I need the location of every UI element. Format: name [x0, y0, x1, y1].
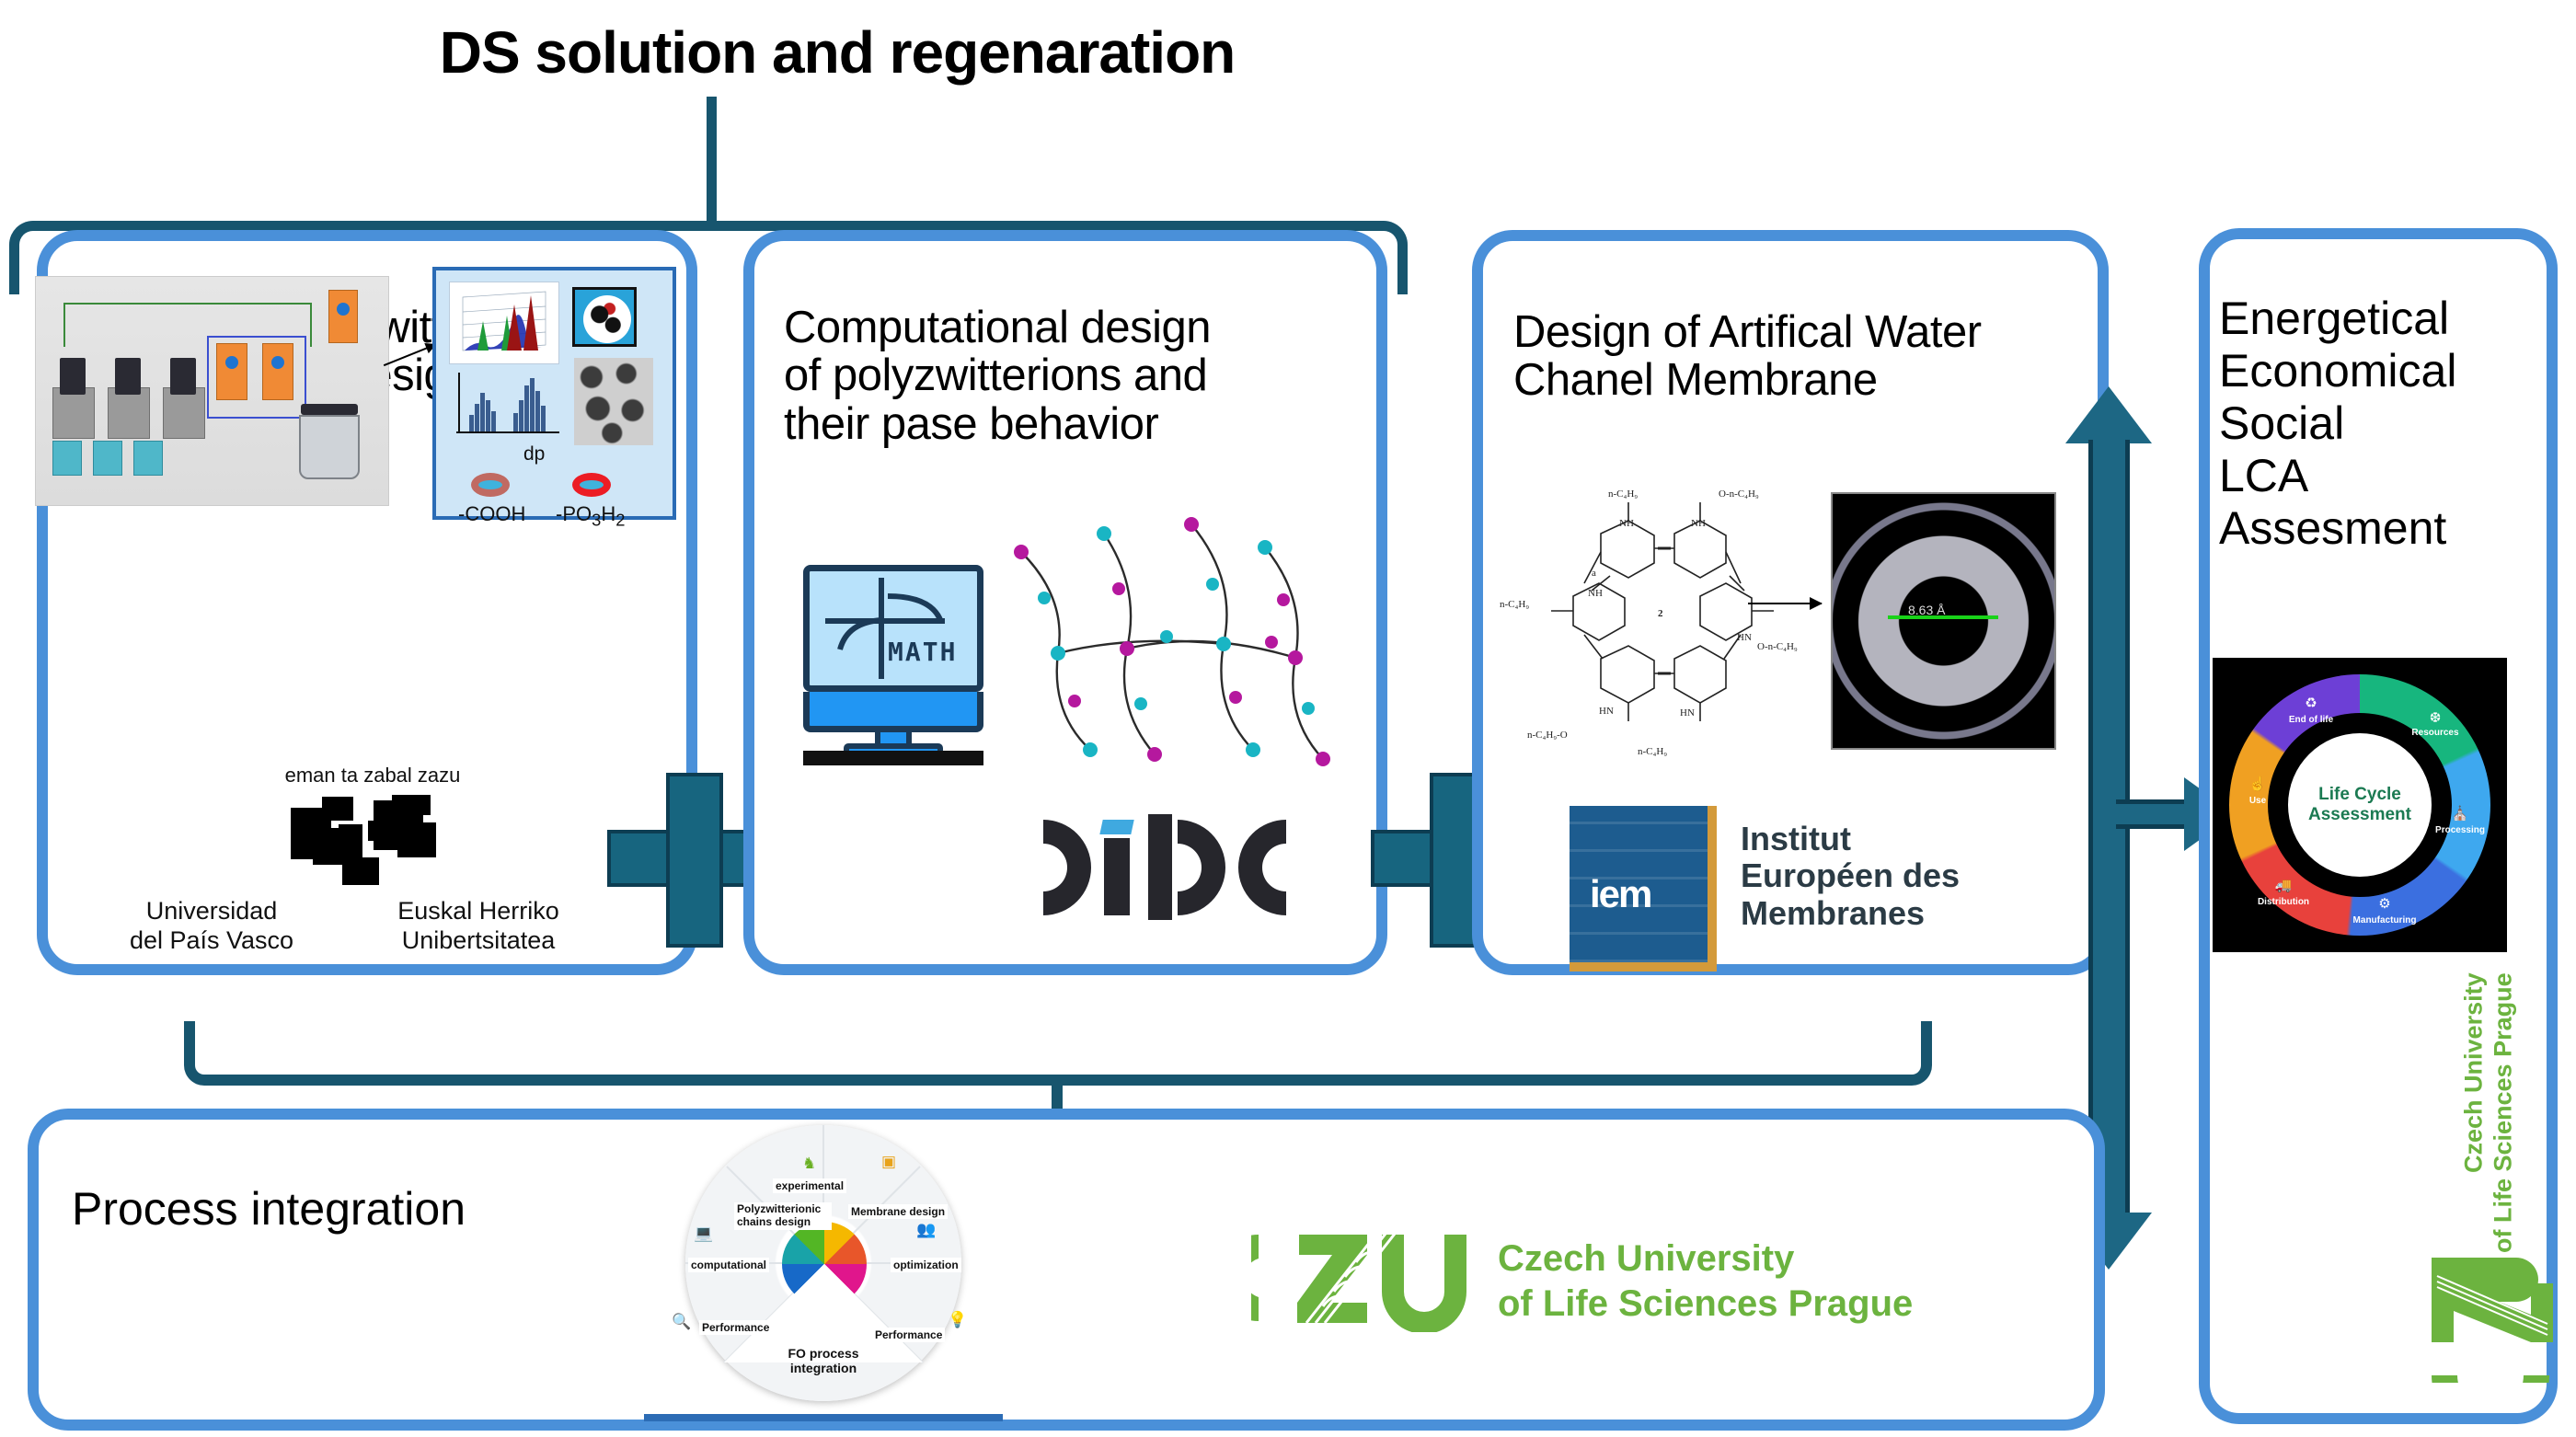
czu-name-line2: of Life Sciences Prague: [1498, 1282, 1913, 1327]
polymer-schematic-icon: [572, 287, 637, 347]
iem-name-line3: Membranes: [1741, 895, 1960, 932]
lca-label-resources: Resources: [2401, 728, 2469, 738]
panel2-title: Computational design of polyzwitterions …: [784, 304, 1382, 448]
svg-text:n-C₄H₉-O: n-C₄H₉-O: [1527, 730, 1568, 741]
lca-label-end-of-life: End of life: [2277, 715, 2345, 725]
ehu-name-basque: Euskal Herriko Unibertsitatea: [359, 897, 598, 956]
czu-logo-vertical: Czech University of Life Sciences Prague: [2438, 957, 2567, 1408]
iem-mark-text: iem: [1590, 872, 1650, 916]
lab-setup-image: [35, 276, 389, 506]
ehu-name-eu-line1: Euskal Herriko: [359, 897, 598, 926]
pore-measure-label: 8.63 Å: [1908, 603, 1945, 617]
ehu-name-eu-line2: Unibertsitatea: [359, 926, 598, 956]
panel2-title-line1: Computational design: [784, 304, 1382, 351]
lca-label-distribution: Distribution: [2249, 897, 2317, 907]
processing-icon: ⛪: [2426, 805, 2494, 822]
panel3-title-line2: Chanel Membrane: [1513, 356, 2157, 404]
performance-right-icon: 💡: [948, 1311, 967, 1329]
svg-text:n-C₄H₉: n-C₄H₉: [1608, 489, 1638, 500]
panel4-title-line5: Assesment: [2219, 502, 2456, 555]
panel4-title-line4: LCA: [2219, 450, 2456, 502]
end-of-life-icon: ♻: [2277, 695, 2345, 711]
wheel-center-pie: [782, 1222, 867, 1306]
cooh-label: -COOH: [458, 502, 525, 526]
spectra-3d-plot: [449, 282, 559, 364]
cooh-ring-icon: [471, 473, 510, 497]
wheel-label-performance-left: Performance: [699, 1320, 772, 1335]
svg-text:n-C₄H₉: n-C₄H₉: [1638, 746, 1667, 757]
channel-molecular-model: 8.63 Å: [1831, 492, 2056, 750]
panel2-title-line3: their pase behavior: [784, 400, 1382, 448]
czu-mark-icon: [1251, 1224, 1472, 1332]
svg-text:HN: HN: [1599, 706, 1614, 717]
particle-size-histogram: [456, 372, 562, 441]
computational-icon: 💻: [694, 1224, 713, 1243]
svg-text:HN: HN: [1680, 707, 1695, 718]
panel2-title-line2: of polyzwitterions and: [784, 351, 1382, 399]
ehu-motto: eman ta zabal zazu: [276, 764, 469, 787]
lca-label-processing: Processing: [2426, 825, 2494, 835]
page-title: DS solution and regenaration: [396, 18, 1279, 86]
results-figure-box: dp -COOH -PO3H2: [432, 267, 676, 520]
wheel-center-line2: integration: [764, 1361, 883, 1375]
math-monitor-icon: MATH: [787, 552, 998, 764]
wheel-label-experimental: experimental: [773, 1178, 846, 1193]
po3h2-label: -PO3H2: [556, 502, 625, 530]
wheel-bottom-bar: [644, 1414, 1003, 1421]
wheel-label-performance-right: Performance: [872, 1328, 945, 1342]
wheel-label-polyzwitterionic-text: Polyzwitterionic chains design: [737, 1202, 821, 1228]
wheel-label-polyzwitterionic: Polyzwitterionic chains design: [734, 1202, 832, 1230]
panel3-title-line1: Design of Artifical Water: [1513, 308, 2157, 356]
experimental-icon: ♞: [802, 1155, 816, 1173]
manufacturing-icon: ⚙: [2351, 895, 2419, 912]
svg-text:NH: NH: [1691, 518, 1706, 529]
fo-process-integration-wheel: ♞ experimental ▣ Membrane design Polyzwi…: [644, 1118, 1003, 1421]
tem-micrograph: [574, 358, 653, 445]
lca-label-manufacturing: Manufacturing: [2351, 915, 2419, 925]
distribution-icon: 🚚: [2249, 877, 2317, 893]
iem-logo: iem Institut Européen des Membranes: [1564, 800, 2042, 984]
ehu-name-spanish: Universidad del País Vasco: [120, 897, 304, 956]
lca-label-use: Use: [2224, 796, 2292, 806]
use-icon: ☝: [2224, 776, 2292, 792]
iem-name-line1: Institut: [1741, 821, 1960, 857]
ehu-name-es-line2: del País Vasco: [120, 926, 304, 956]
ehu-mark-icon: [285, 791, 460, 902]
czu-logo-horizontal: Czech University of Life Sciences Prague: [1251, 1224, 1914, 1343]
top-bracket-stem: [707, 97, 717, 225]
czu-name-line1: Czech University: [1498, 1236, 1913, 1282]
svg-text:NH: NH: [1619, 518, 1634, 529]
czu-name: Czech University of Life Sciences Prague: [1498, 1236, 1913, 1327]
wheel-label-optimization: optimization: [891, 1258, 961, 1272]
svg-text:NH: NH: [1588, 588, 1603, 599]
monitor-math-label: MATH: [888, 637, 957, 667]
po3h2-ring-icon: [572, 473, 611, 497]
svg-text:HN: HN: [1737, 632, 1752, 643]
lca-center: Life Cycle Assessment: [2288, 733, 2432, 877]
ehu-logo: eman ta zabal zazu: [276, 764, 469, 902]
membrane-design-icon: ▣: [881, 1153, 896, 1171]
diagram-canvas: DS solution and regenaration Biobased po…: [0, 0, 2576, 1437]
panel4-title-line2: Economical: [2219, 345, 2456, 397]
lca-center-line1: Life Cycle: [2318, 785, 2401, 804]
performance-left-icon: 🔍: [672, 1313, 691, 1331]
vectorstock-watermark: [803, 751, 983, 765]
svg-text:O-n-C₄H₉: O-n-C₄H₉: [1757, 641, 1798, 652]
transformation-arrow-icon: [1748, 603, 1822, 604]
panel5-title: Process integration: [72, 1182, 466, 1236]
dp-axis-label: dp: [523, 443, 545, 466]
iem-name: Institut Européen des Membranes: [1741, 821, 1960, 932]
bottom-bracket: [184, 1021, 1932, 1086]
panel4-title-line1: Energetical: [2219, 293, 2456, 345]
panel4-title-line3: Social: [2219, 397, 2456, 450]
svg-text:2: 2: [1658, 608, 1663, 619]
svg-text:n-C₄H₉: n-C₄H₉: [1500, 599, 1529, 610]
ehu-name-es-line1: Universidad: [120, 897, 304, 926]
life-cycle-assessment-diagram: Life Cycle Assessment ❆ Resources ⛪ Proc…: [2213, 658, 2507, 952]
wheel-label-computational: computational: [688, 1258, 769, 1272]
optimization-icon: 👥: [916, 1221, 936, 1239]
iem-name-line2: Européen des: [1741, 857, 1960, 894]
svg-text:O-n-C₄H₉: O-n-C₄H₉: [1719, 489, 1759, 500]
lca-center-line2: Assessment: [2308, 805, 2411, 824]
panel3-title: Design of Artifical Water Chanel Membran…: [1513, 308, 2157, 405]
wheel-center-line1: FO process: [764, 1346, 883, 1361]
iem-mark-icon: iem: [1570, 806, 1717, 971]
resources-icon: ❆: [2401, 709, 2469, 726]
panel4-title: Energetical Economical Social LCA Assesm…: [2219, 293, 2456, 555]
wheel-label-membrane-design: Membrane design: [848, 1204, 948, 1219]
wheel-center-label: FO process integration: [764, 1346, 883, 1375]
dipc-logo: [1040, 814, 1343, 920]
czu-vertical-mark-icon: [2432, 1222, 2570, 1406]
polymer-chains-illustration: [1003, 497, 1362, 828]
svg-text:a: a: [1592, 568, 1596, 579]
